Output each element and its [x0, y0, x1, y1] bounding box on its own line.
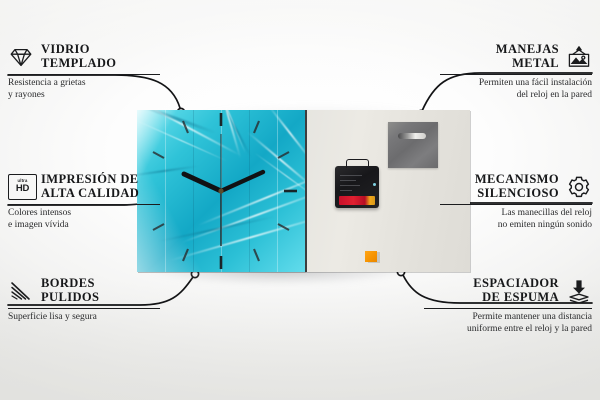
gear-icon: [566, 174, 592, 200]
feature-title: BORDES PULIDOS: [41, 277, 99, 304]
feature-title: VIDRIO TEMPLADO: [41, 43, 116, 70]
polished-edges-icon: [8, 278, 34, 304]
clock-mechanism: [335, 166, 379, 208]
foam-spacer-icon: [566, 278, 592, 304]
feature-hd-print: ultra HD IMPRESIÓN DE ALTA CALIDAD Color…: [8, 173, 160, 231]
feature-title: ESPACIADOR DE ESPUMA: [473, 277, 559, 304]
feature-tempered-glass: VIDRIO TEMPLADO Resistencia a grietas y …: [8, 43, 160, 101]
feature-title: IMPRESIÓN DE ALTA CALIDAD: [41, 173, 139, 200]
feature-description: Permite mantener una distancia uniforme …: [424, 312, 592, 335]
feature-description: Superficie lisa y segura: [8, 312, 160, 324]
divider: [424, 308, 592, 309]
foam-spacer: [365, 251, 377, 262]
divider: [440, 74, 592, 75]
feature-description: Las manecillas del reloj no emiten ningú…: [440, 208, 592, 231]
feature-description: Permiten una fácil instalación del reloj…: [440, 78, 592, 101]
feature-description: Resistencia a grietas y rayones: [8, 78, 160, 101]
divider: [8, 204, 160, 205]
clock-face: [137, 110, 305, 272]
product-photo: [137, 110, 470, 272]
feature-metal-handles: MANEJAS METAL Permiten una fácil instala…: [440, 43, 592, 101]
clock-dial: [137, 110, 305, 272]
feature-description: Colores intensos e imagen vívida: [8, 208, 160, 231]
mechanism-hook: [346, 159, 369, 168]
ultra-hd-icon: ultra HD: [8, 174, 34, 200]
diamond-icon: [8, 44, 34, 70]
feature-title: MANEJAS METAL: [496, 43, 559, 70]
infographic-canvas: VIDRIO TEMPLADO Resistencia a grietas y …: [0, 0, 600, 400]
hanger-slot: [398, 133, 426, 139]
divider: [8, 74, 160, 75]
divider: [8, 308, 160, 309]
feature-foam-spacer: ESPACIADOR DE ESPUMA Permite mantener un…: [424, 277, 592, 335]
mechanism-indicator: [373, 183, 376, 186]
feature-polished-edges: BORDES PULIDOS Superficie lisa y segura: [8, 277, 160, 324]
framed-picture-icon: [566, 44, 592, 70]
divider: [440, 204, 592, 205]
battery: [339, 196, 375, 205]
metal-hanger-plate: [388, 122, 438, 168]
feature-silent-mechanism: MECANISMO SILENCIOSO Las manecillas del …: [440, 173, 592, 231]
feature-title: MECANISMO SILENCIOSO: [475, 173, 559, 200]
